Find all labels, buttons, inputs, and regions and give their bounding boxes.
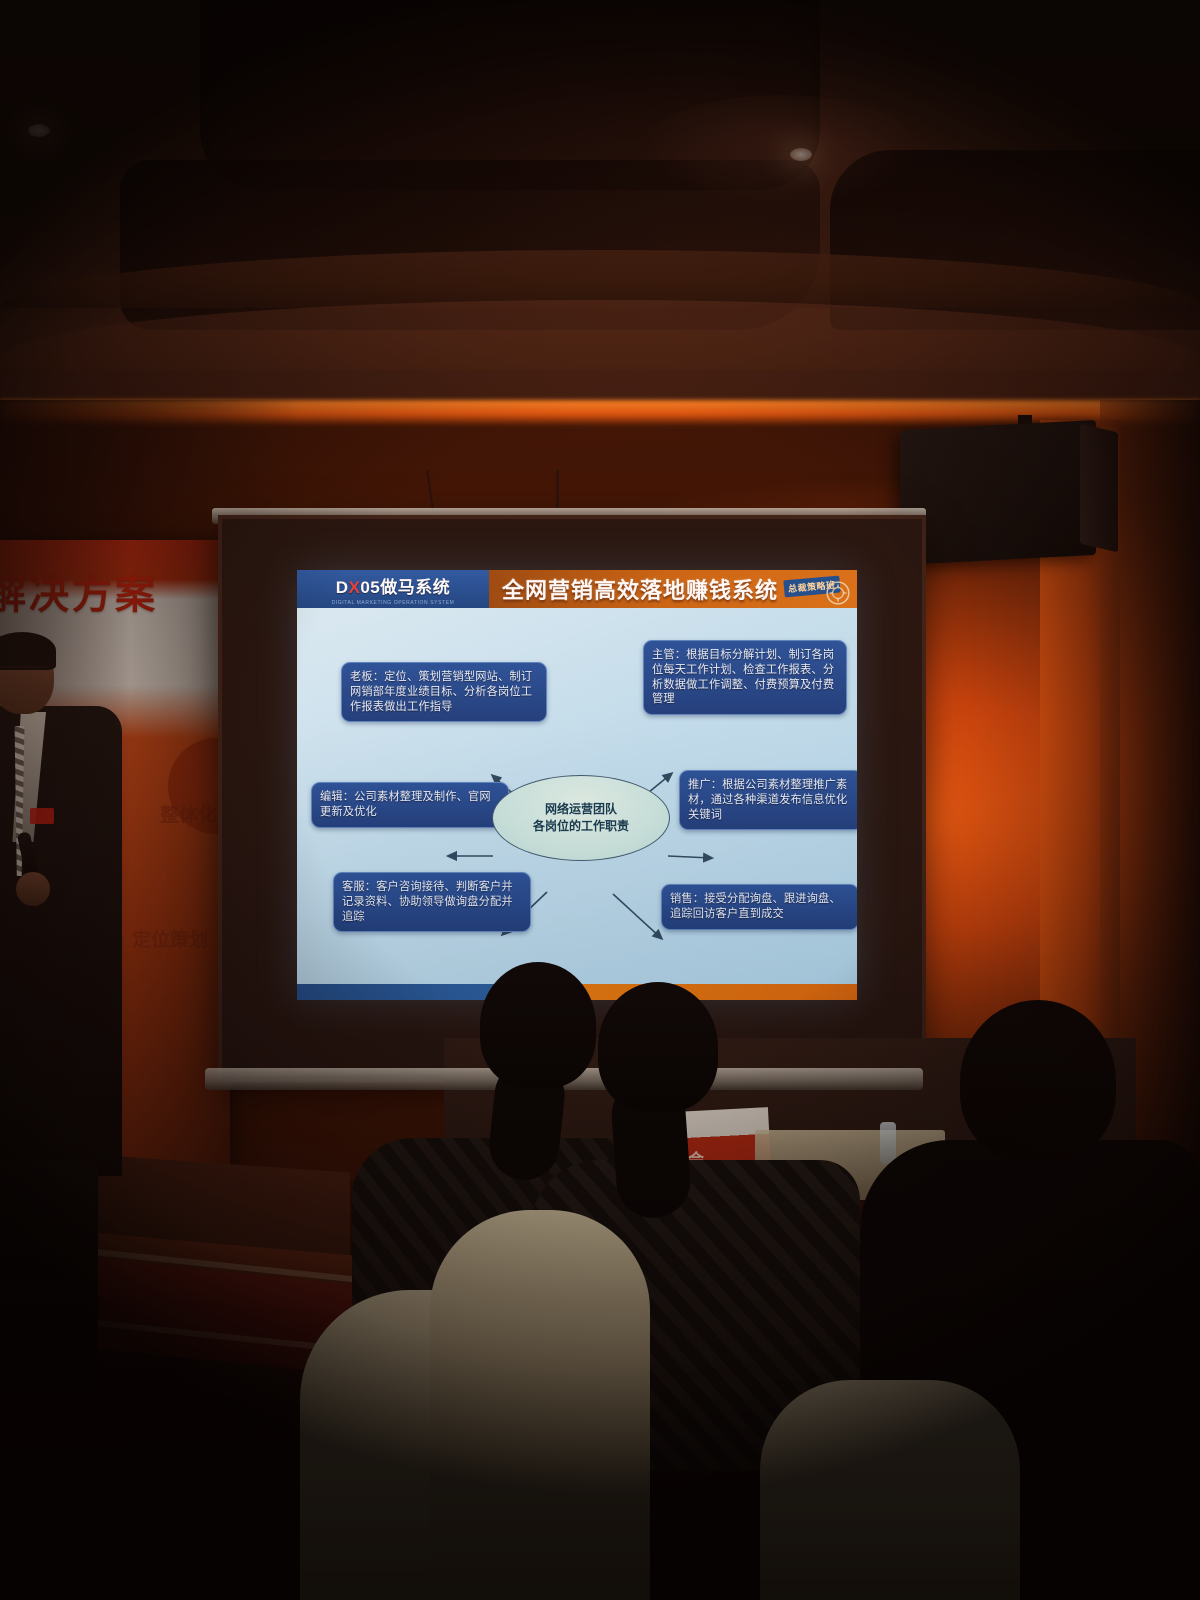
audience-member-head	[598, 982, 718, 1112]
presenter-badge	[30, 808, 54, 824]
presenter	[0, 640, 142, 1320]
node-supervisor: 主管：根据目标分解计划、制订各岗位每天工作计划、检查工作报表、分析数据做工作调整…	[643, 640, 847, 715]
ceiling-medallion	[640, 95, 920, 205]
presenter-hair	[0, 632, 56, 670]
node-sales: 销售：接受分配询盘、跟进询盘、追踪回访客户直到成交	[661, 884, 857, 930]
node-editor: 编辑：公司素材整理及制作、官网更新及优化	[311, 782, 509, 828]
logo-05: 05	[360, 578, 380, 597]
wall-speaker-side	[1080, 424, 1118, 553]
center-line-2: 各岗位的工作职责	[533, 818, 629, 835]
node-customer-service: 客服：客户咨询接待、判断客户并记录资料、协助领导做询盘分配并追踪	[333, 872, 531, 932]
water-bottle	[880, 1122, 896, 1164]
center-line-1: 网络运营团队	[545, 801, 617, 818]
logo-brand: 做马系统	[380, 578, 450, 597]
presentation-slide: DX05做马系统 DIGITAL MARKETING OPERATION SYS…	[297, 570, 857, 1000]
ceiling	[0, 0, 1200, 420]
conference-room-photo: 解决方案 整体化 定位策划 系统 DX05做马系统 DIGITAL MARKET…	[0, 0, 1200, 1600]
audience-member-head	[480, 962, 596, 1088]
banquet-chair	[760, 1380, 1020, 1600]
presenter-glasses-icon	[0, 666, 46, 680]
slide-logo-subtitle: DIGITAL MARKETING OPERATION SYSTEM	[332, 600, 455, 606]
logo-d: D	[336, 578, 349, 597]
audience-member-head	[960, 1000, 1116, 1162]
slide-title: 全网营销高效落地赚钱系统	[495, 574, 785, 604]
downlight-icon	[790, 148, 812, 161]
ceiling-cable	[556, 470, 559, 510]
presenter-shoe	[0, 1258, 80, 1280]
wall-speaker	[900, 420, 1096, 565]
logo-x: X	[349, 578, 361, 597]
gear-emblem-icon	[825, 580, 851, 606]
downlight-icon	[28, 124, 50, 137]
banquet-chair	[430, 1210, 650, 1600]
slide-logo-text: DX05做马系统	[336, 573, 451, 598]
center-oval: 网络运营团队 各岗位的工作职责	[492, 775, 670, 861]
slide-logo: DX05做马系统 DIGITAL MARKETING OPERATION SYS…	[297, 570, 489, 608]
slide-header: DX05做马系统 DIGITAL MARKETING OPERATION SYS…	[297, 570, 857, 608]
node-boss: 老板：定位、策划营销型网站、制订网销部年度业绩目标、分析各岗位工作报表做出工作指…	[341, 662, 547, 722]
presenter-hand	[16, 872, 50, 906]
node-promotion: 推广：根据公司素材整理推广素材，通过各种渠道发布信息优化关键词	[679, 770, 857, 830]
